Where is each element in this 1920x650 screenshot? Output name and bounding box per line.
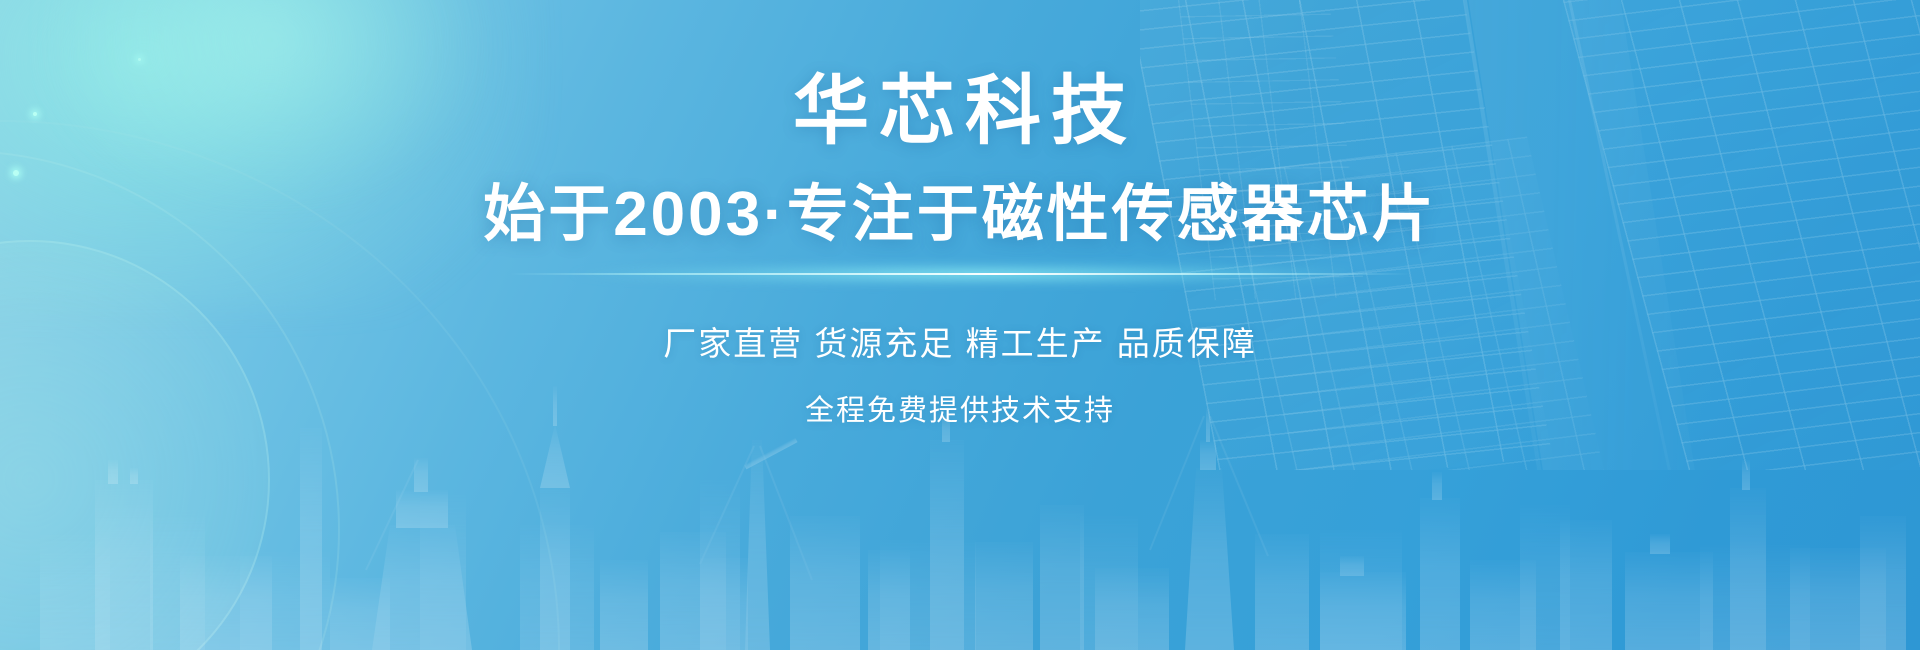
banner-content: 华芯科技 始于2003·专注于磁性传感器芯片 厂家直营 货源充足 精工生产 品质… bbox=[0, 0, 1920, 650]
company-title: 华芯科技 bbox=[783, 74, 1137, 150]
tagline-primary: 厂家直营 货源充足 精工生产 品质保障 bbox=[663, 317, 1257, 365]
divider-line bbox=[510, 273, 1410, 275]
tagline-secondary: 全程免费提供技术支持 bbox=[805, 387, 1115, 429]
banner-subtitle: 始于2003·专注于磁性传感器芯片 bbox=[483, 182, 1437, 247]
hero-banner: 华芯科技 始于2003·专注于磁性传感器芯片 厂家直营 货源充足 精工生产 品质… bbox=[0, 0, 1920, 650]
glow-divider bbox=[510, 269, 1410, 279]
